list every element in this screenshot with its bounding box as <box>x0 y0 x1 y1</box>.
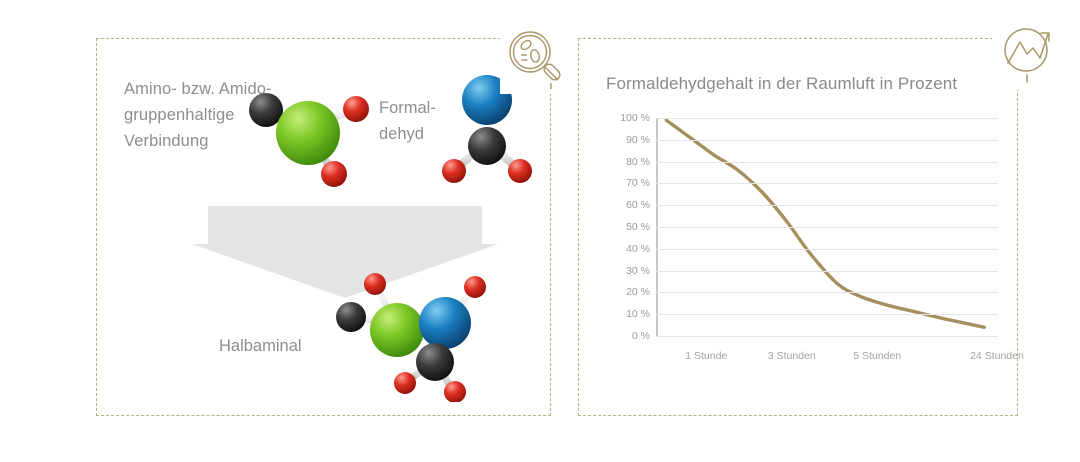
y-axis-labels: 0 %10 %20 %30 %40 %50 %60 %70 %80 %90 %1… <box>598 118 650 336</box>
gridline <box>656 227 998 228</box>
magnifier-molecule-icon <box>504 26 568 90</box>
y-axis-tick-label: 10 % <box>604 308 650 320</box>
gridline <box>656 271 998 272</box>
y-axis-tick-label: 20 % <box>604 286 650 298</box>
y-axis-tick-label: 100 % <box>604 112 650 124</box>
gridline <box>656 314 998 315</box>
magnifier-icon-container <box>500 22 572 94</box>
gridline <box>656 183 998 184</box>
y-axis-tick-label: 60 % <box>604 199 650 211</box>
chart-area: 0 %10 %20 %30 %40 %50 %60 %70 %80 %90 %1… <box>598 118 998 380</box>
y-axis-tick-label: 40 % <box>604 243 650 255</box>
y-axis-tick-label: 80 % <box>604 156 650 168</box>
gridline <box>656 140 998 141</box>
trend-icon-container <box>992 18 1064 90</box>
y-axis-tick-label: 0 % <box>604 330 650 342</box>
x-axis-tick-label: 3 Stunden <box>768 350 816 362</box>
halbaminal-label: Halbaminal <box>219 337 302 356</box>
gridline <box>656 205 998 206</box>
x-axis-tick-label: 5 Stunden <box>853 350 901 362</box>
halbaminal-molecule <box>325 270 507 402</box>
plot-region: 1 Stunde3 Stunden5 Stunden24 Stunden <box>656 118 998 336</box>
x-axis-tick-label: 24 Stunden <box>970 350 1024 362</box>
y-axis-tick-label: 90 % <box>604 134 650 146</box>
x-axis-tick-label: 1 Stunde <box>685 350 727 362</box>
gridline <box>656 162 998 163</box>
y-axis-tick-label: 70 % <box>604 177 650 189</box>
gridline <box>656 249 998 250</box>
trend-chart-icon <box>996 22 1060 86</box>
chart-title: Formaldehydgehalt in der Raumluft in Pro… <box>606 74 957 94</box>
y-axis-tick-label: 30 % <box>604 265 650 277</box>
gridline <box>656 336 998 337</box>
gridline <box>656 118 998 119</box>
gridline <box>656 292 998 293</box>
y-axis-tick-label: 50 % <box>604 221 650 233</box>
amino-compound-molecule <box>238 78 388 196</box>
